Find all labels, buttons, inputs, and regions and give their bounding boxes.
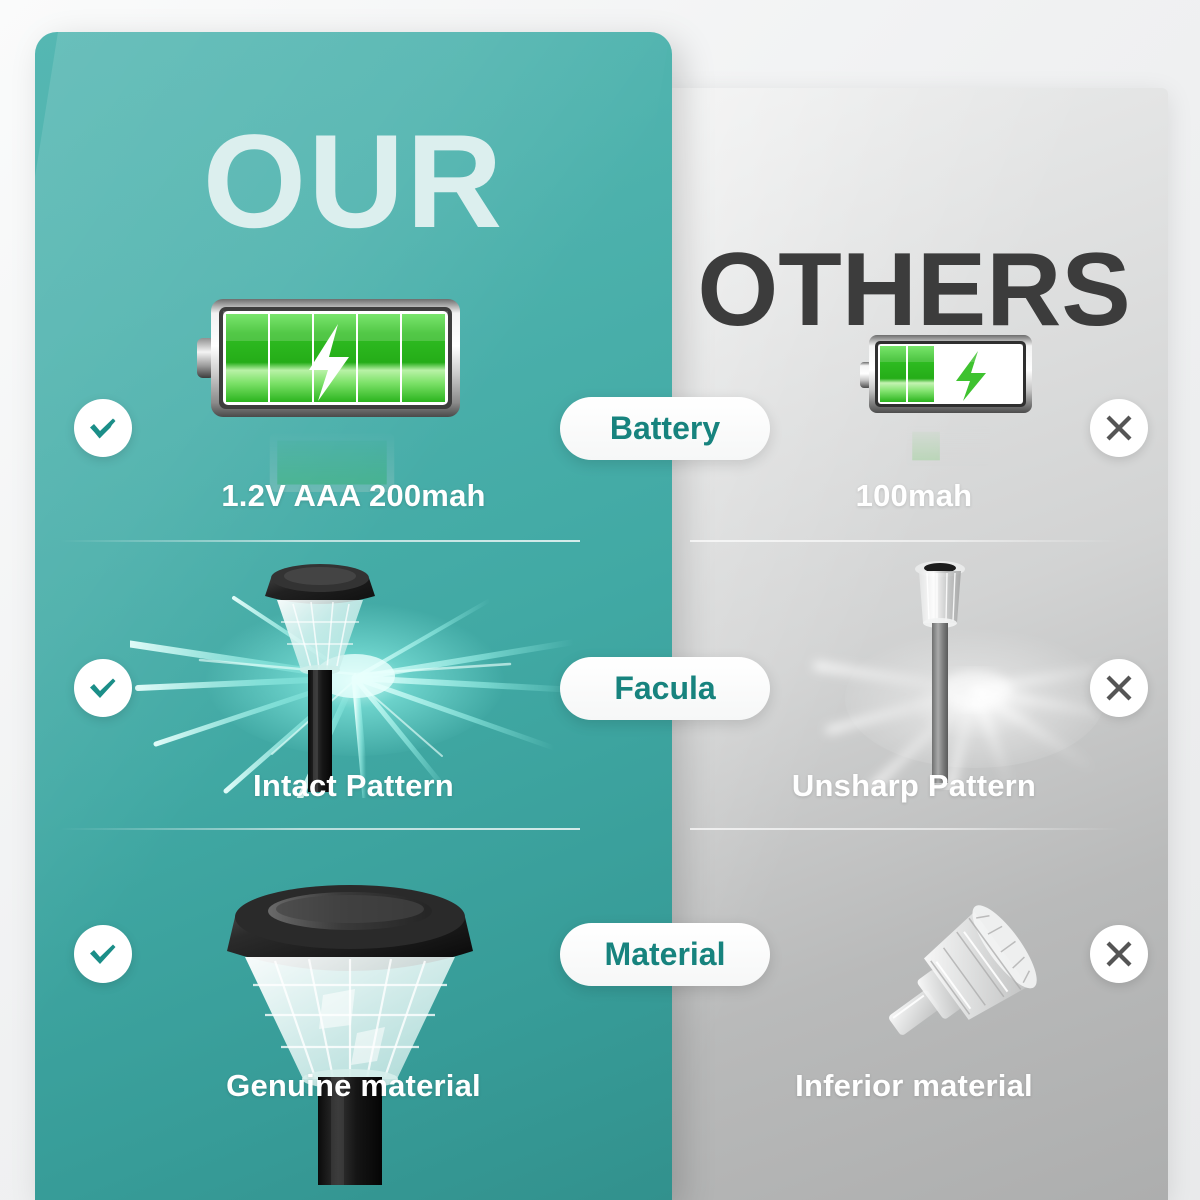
- cross-icon: [1104, 413, 1134, 443]
- row-label-material-text: Material: [605, 936, 726, 973]
- check-icon: [86, 937, 120, 971]
- our-material-caption: Genuine material: [35, 1068, 672, 1104]
- our-solar-lamp-image: [215, 552, 425, 792]
- our-heading: OUR: [35, 116, 672, 249]
- row-label-material[interactable]: Material: [560, 923, 770, 986]
- our-battery-check-badge: [74, 399, 132, 457]
- cross-icon: [1104, 939, 1134, 969]
- our-material-lamp-image: [205, 855, 495, 1185]
- others-battery-image: [860, 331, 1032, 417]
- our-facula-caption: Intact Pattern: [35, 768, 672, 804]
- row-label-battery-text: Battery: [610, 410, 720, 447]
- others-battery-cross-badge: [1090, 399, 1148, 457]
- others-facula-cross-badge: [1090, 659, 1148, 717]
- our-facula-check-badge: [74, 659, 132, 717]
- infographic-stage: OTHERS OUR: [0, 0, 1200, 1200]
- full-battery-icon: [197, 291, 460, 423]
- others-stake-lamp-image: [885, 555, 995, 785]
- premium-lamp-head-icon: [205, 855, 495, 1185]
- cheap-plastic-diffuser-icon: [845, 895, 1060, 1075]
- check-icon: [86, 671, 120, 705]
- others-material-cross-badge: [1090, 925, 1148, 983]
- solar-stake-lamp-icon: [215, 552, 425, 792]
- low-battery-icon: [860, 331, 1032, 417]
- row-label-battery[interactable]: Battery: [560, 397, 770, 460]
- our-battery-caption: 1.2V AAA 200mah: [35, 478, 672, 514]
- our-battery-image: [197, 291, 460, 423]
- our-divider-1: [60, 540, 580, 542]
- our-divider-2: [60, 828, 580, 830]
- others-material-image: [845, 895, 1060, 1075]
- others-material-caption: Inferior material: [660, 1068, 1168, 1104]
- others-battery-caption: 100mah: [660, 478, 1168, 514]
- row-label-facula[interactable]: Facula: [560, 657, 770, 720]
- others-heading: OTHERS: [660, 238, 1168, 342]
- check-icon: [86, 411, 120, 445]
- others-facula-caption: Unsharp Pattern: [660, 768, 1168, 804]
- cross-icon: [1104, 673, 1134, 703]
- row-label-facula-text: Facula: [614, 670, 715, 707]
- thin-stake-lamp-icon: [885, 555, 995, 785]
- others-divider-2: [690, 828, 1120, 830]
- our-material-check-badge: [74, 925, 132, 983]
- others-divider-1: [690, 540, 1120, 542]
